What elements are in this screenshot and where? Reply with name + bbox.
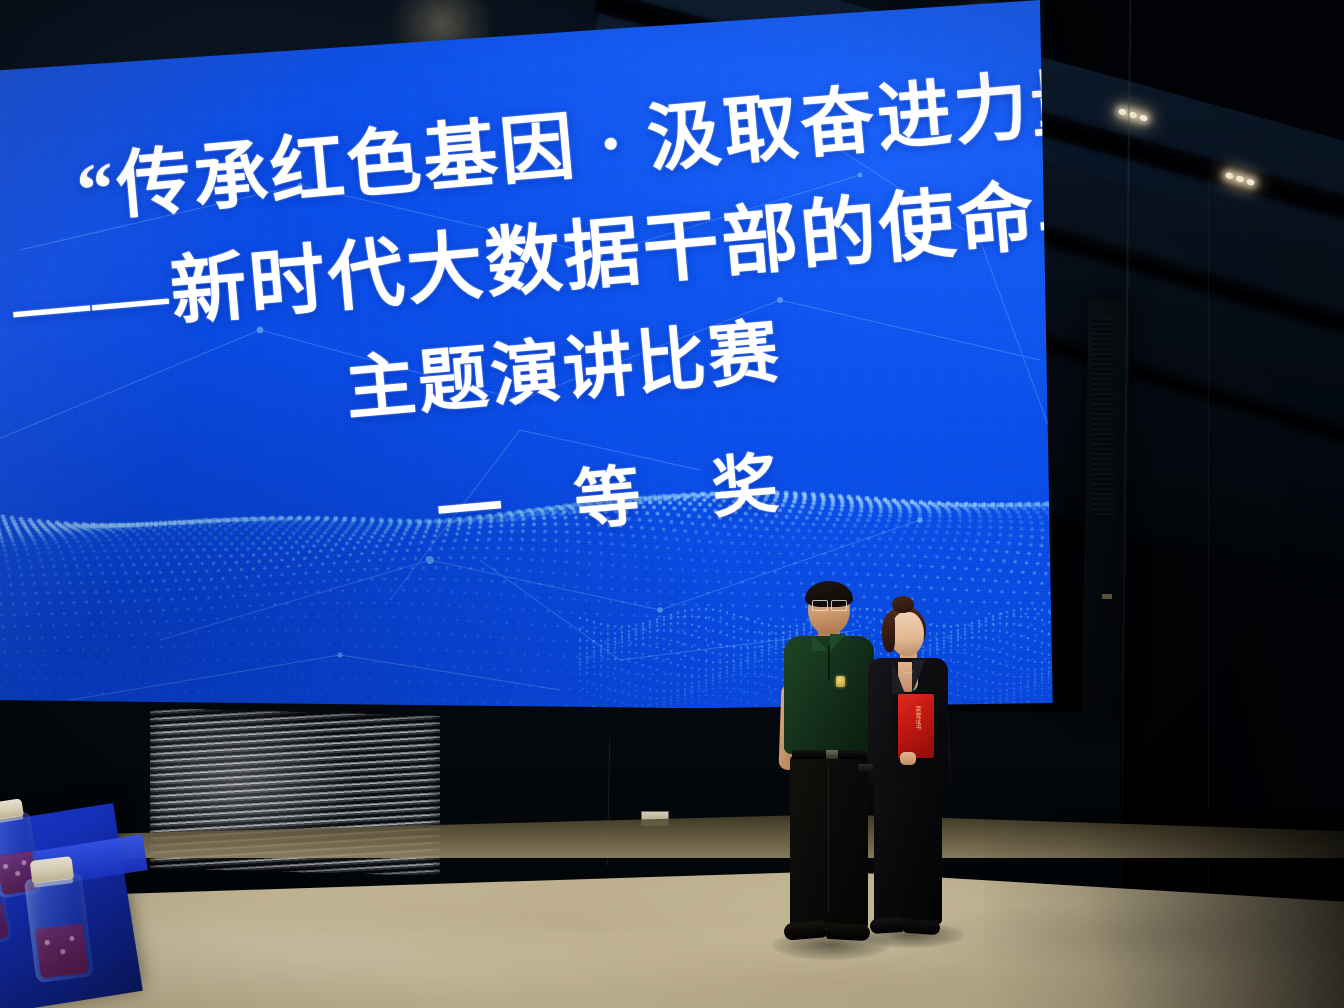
recipient-trousers	[874, 778, 942, 924]
led-screen-text-block: “传承红色基因 · 汲取奋进力量 ——新时代大数据干部的使命与风采” 主题演讲比…	[0, 0, 1182, 757]
recipient-shoe-left	[870, 917, 905, 934]
presenter-shoe-left	[783, 920, 826, 941]
recipient-necklace	[902, 664, 914, 674]
certificate-folder: 荣誉证书	[898, 694, 934, 758]
presenter-trousers	[790, 756, 868, 928]
certificate-imprint: 荣誉证书	[912, 706, 920, 730]
recipient-hair-side	[882, 614, 895, 652]
water-bottle-1	[24, 873, 94, 983]
speaker-grille	[1092, 318, 1114, 518]
presenter-trouser-crease	[828, 762, 829, 912]
presenter-chest-emblem-icon	[836, 676, 845, 687]
recipient-hair-bun	[892, 596, 914, 613]
photo-scene: “传承红色基因 · 汲取奋进力量 ——新时代大数据干部的使命与风采” 主题演讲比…	[0, 0, 1344, 1008]
recipient-shoe-right	[904, 919, 941, 935]
speaker-mount-bolt	[1102, 594, 1112, 599]
wall-corner-edge-secondary	[1208, 180, 1209, 940]
recipient-hand	[900, 752, 916, 765]
glasses-icon	[810, 600, 848, 609]
presenter-wristwatch	[858, 764, 873, 772]
presenter-belt-buckle	[826, 750, 838, 759]
presenter-shirt-placket	[828, 646, 830, 680]
award-label: 一 等 奖	[432, 428, 809, 556]
person-presenter	[780, 584, 876, 954]
led-screen: “传承红色基因 · 汲取奋进力量 ——新时代大数据干部的使命与风采” 主题演讲比…	[0, 0, 1120, 760]
recipient-head	[890, 612, 924, 656]
bottle-contents	[35, 923, 89, 978]
presenter-shoe-right	[826, 923, 871, 941]
person-award-recipient: 荣誉证书	[864, 604, 952, 944]
